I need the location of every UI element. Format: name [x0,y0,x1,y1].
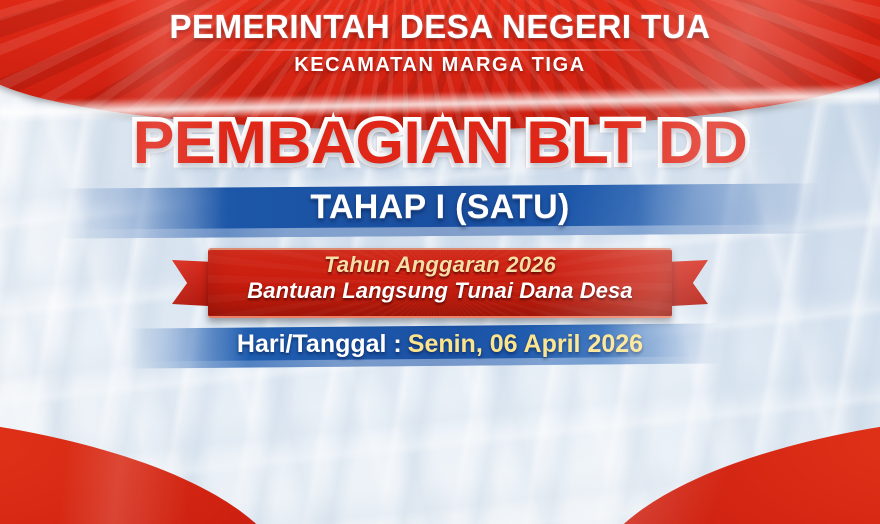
ribbon-line-2: Bantuan Langsung Tunai Dana Desa [208,278,672,304]
ribbon-text-block: Tahun Anggaran 2026 Bantuan Langsung Tun… [208,252,672,304]
date-line: Hari/Tanggal :Senin, 06 April 2026 [0,330,880,359]
date-value: Senin, 06 April 2026 [408,330,643,358]
header-block: PEMERINTAH DESA NEGERI TUA KECAMATAN MAR… [0,10,880,77]
ribbon-banner: Tahun Anggaran 2026 Bantuan Langsung Tun… [0,244,880,322]
page-title: PEMBAGIAN BLT DD [0,113,880,173]
date-label: Hari/Tanggal : [237,330,402,358]
page-title-text: PEMBAGIAN BLT DD [133,109,747,176]
header-line-1: PEMERINTAH DESA NEGERI TUA [0,10,880,45]
page-subtitle: TAHAP I (SATU) [0,188,880,227]
header-line-2: KECAMATAN MARGA TIGA [0,54,880,77]
ribbon-line-1: Tahun Anggaran 2026 [208,252,672,278]
header-divider [210,49,670,51]
banner-poster: PEMERINTAH DESA NEGERI TUA KECAMATAN MAR… [0,0,880,524]
